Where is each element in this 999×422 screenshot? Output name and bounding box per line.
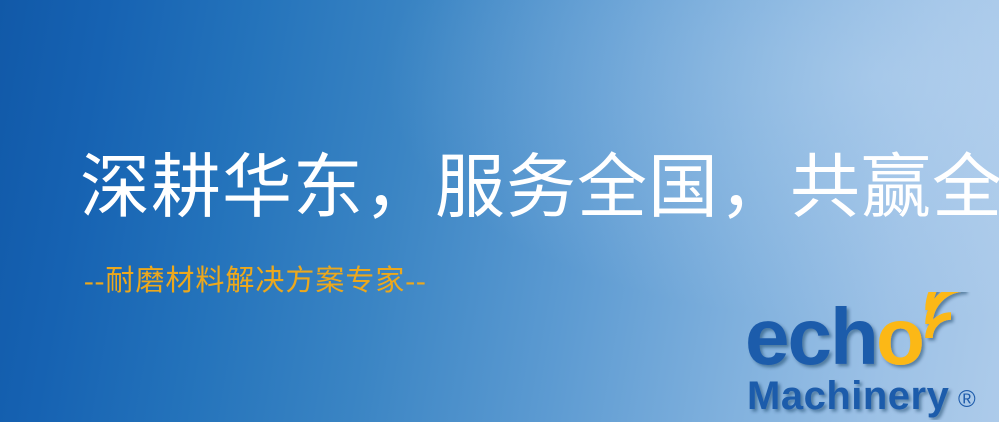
logo-wordmark-machinery: Machinery xyxy=(747,374,950,418)
signal-arcs-icon xyxy=(929,292,979,338)
logo-wordmark-ech: ech xyxy=(745,292,877,381)
logo-wordmark-o: o xyxy=(876,292,925,381)
echo-machinery-logo: ech o Machinery ® xyxy=(743,292,993,420)
hero-banner: 深耕华东，服务全国，共赢全球 --耐磨材料解决方案专家-- ech o Mach… xyxy=(0,0,999,422)
banner-headline: 深耕华东，服务全国，共赢全球 xyxy=(80,152,999,226)
banner-subtitle: --耐磨材料解决方案专家-- xyxy=(84,266,427,298)
logo-registered-mark: ® xyxy=(958,386,976,413)
